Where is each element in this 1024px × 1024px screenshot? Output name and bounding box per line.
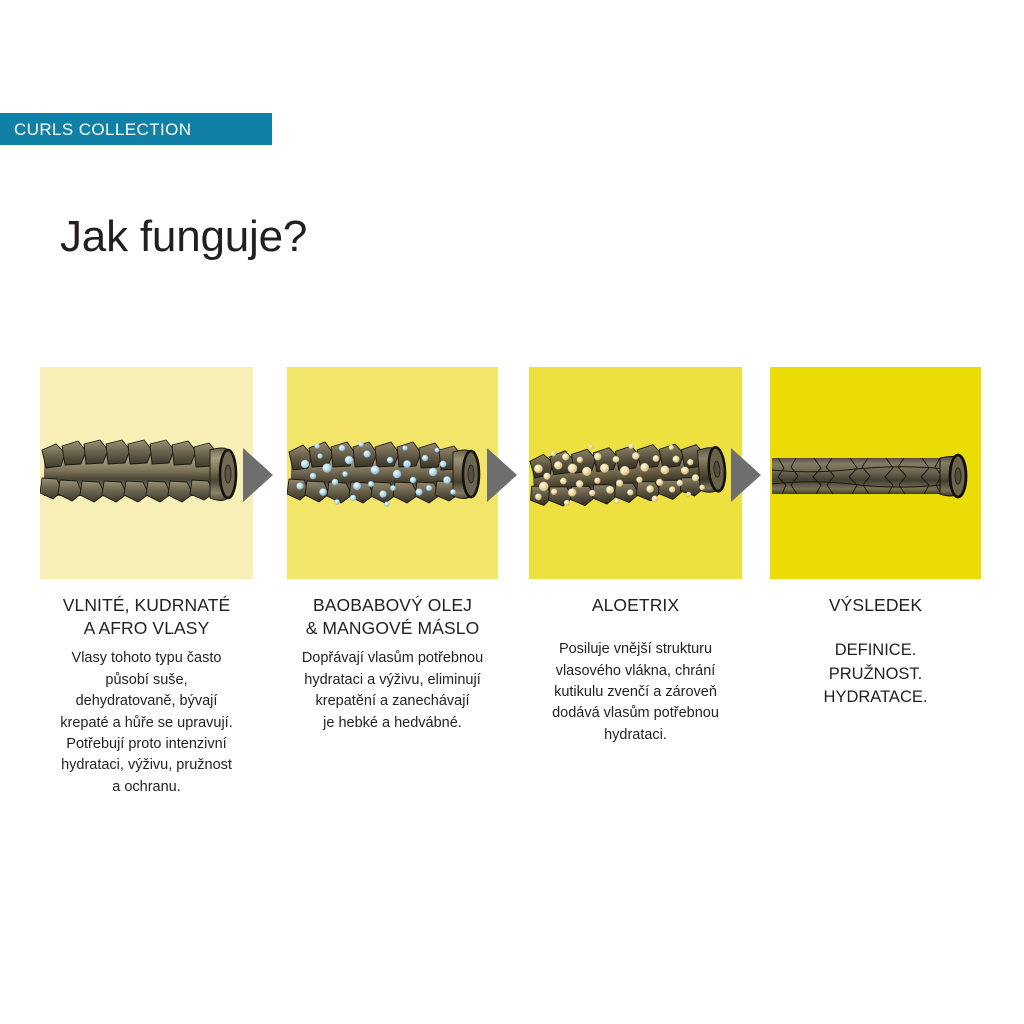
- step-body-2: Dopřávají vlasům potřebnou hydrataci a v…: [277, 648, 508, 734]
- hair-fibre-illustration-4: [770, 430, 981, 516]
- caption-column-4: VÝSLEDEK DEFINICE. PRUŽNOST. HYDRATACE.: [760, 594, 991, 709]
- arrow-right-icon-1: [243, 448, 273, 502]
- step-title-1: VLNITÉ, KUDRNATÉ A AFRO VLASY: [30, 594, 263, 640]
- arrow-right-icon-3: [731, 448, 761, 502]
- hair-fibre-illustration-3: [529, 430, 742, 516]
- caption-column-1: VLNITÉ, KUDRNATÉ A AFRO VLASY Vlasy toho…: [30, 594, 263, 798]
- step-panel-4: [770, 367, 981, 579]
- step-body-3: Posiluje vnější strukturu vlasového vlák…: [519, 639, 752, 746]
- step-panel-2: [287, 367, 498, 579]
- hair-fibre-illustration-2: [287, 430, 498, 516]
- collection-banner-label: CURLS COLLECTION: [14, 121, 191, 138]
- slide-root: CURLS COLLECTION Jak funguje?: [0, 0, 1024, 1024]
- caption-column-3: ALOETRIX Posiluje vnější strukturu vlaso…: [519, 594, 752, 746]
- arrow-right-icon-2: [487, 448, 517, 502]
- step-title-2: BAOBABOVÝ OLEJ & MANGOVÉ MÁSLO: [277, 594, 508, 640]
- step-panel-3: [529, 367, 742, 579]
- caption-column-2: BAOBABOVÝ OLEJ & MANGOVÉ MÁSLO Dopřávají…: [277, 594, 508, 734]
- step-body-4: DEFINICE. PRUŽNOST. HYDRATACE.: [760, 639, 991, 709]
- hair-fibre-illustration-1: [40, 430, 253, 516]
- page-title: Jak funguje?: [60, 213, 307, 261]
- step-panel-1: [40, 367, 253, 579]
- step-body-1: Vlasy tohoto typu často působí suše, deh…: [30, 648, 263, 798]
- step-title-4: VÝSLEDEK: [760, 594, 991, 617]
- step-title-3: ALOETRIX: [519, 594, 752, 617]
- collection-banner: CURLS COLLECTION: [0, 113, 272, 145]
